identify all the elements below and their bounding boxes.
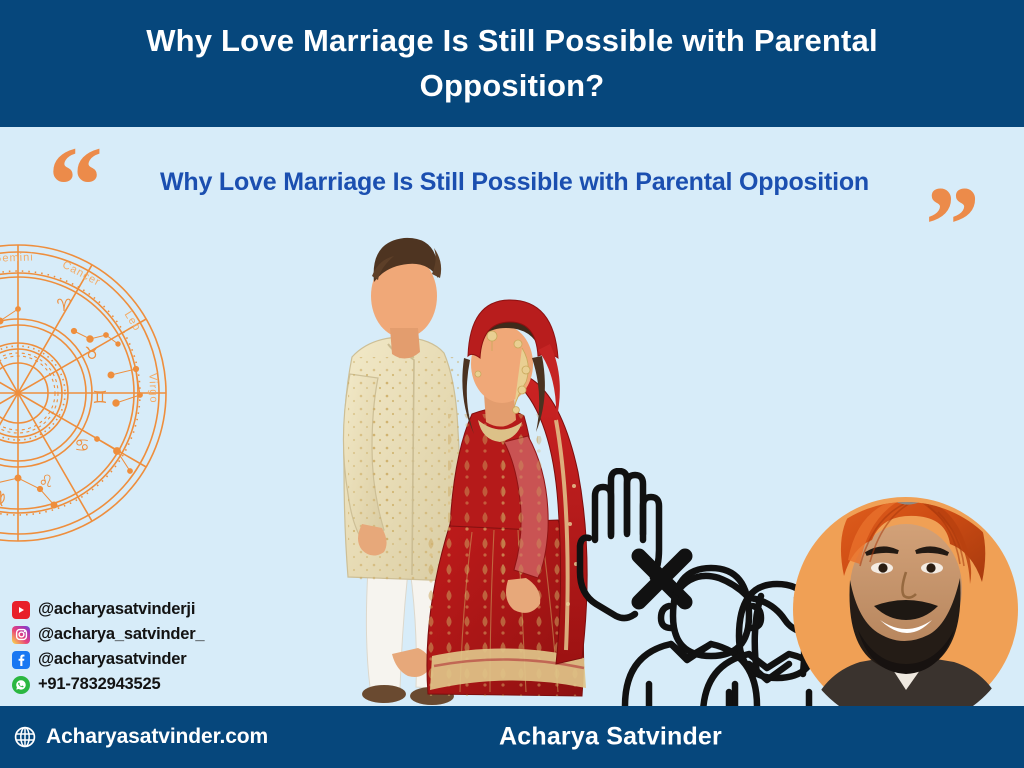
social-row-facebook[interactable]: @acharyasatvinder [12,648,204,671]
whatsapp-icon[interactable] [12,676,30,694]
poster-canvas: Why Love Marriage Is Still Possible with… [0,0,1024,768]
youtube-icon[interactable] [12,601,30,619]
wedding-couple-illustration [332,224,594,714]
footer-website-text: Acharyasatvinder.com [46,725,268,749]
svg-text:♉: ♉ [84,344,99,364]
svg-text:♌: ♌ [38,472,53,492]
svg-text:Virgo: Virgo [146,373,159,404]
svg-text:Leo: Leo [122,309,143,333]
svg-text:♈: ♈ [56,296,71,316]
svg-text:Gemini: Gemini [0,251,34,264]
parents-objection-icon [565,468,815,713]
svg-text:♋: ♋ [74,436,89,456]
social-handle-youtube: @acharyasatvinderji [38,600,195,619]
social-handle-instagram: @acharya_satvinder_ [38,625,204,644]
svg-text:♍: ♍ [0,488,6,508]
social-row-whatsapp[interactable]: +91-7832943525 [12,673,204,696]
social-handles-list: @acharyasatvinderji @acharya_satvinder_ … [12,598,204,696]
globe-icon [14,726,36,748]
footer-author-name: Acharya Satvinder [499,723,722,752]
astrologer-portrait [788,480,1024,715]
quote-open-icon: “ [48,130,103,240]
footer-band: Acharyasatvinder.com Acharya Satvinder [0,706,1024,768]
footer-website-link[interactable]: Acharyasatvinder.com [14,725,268,749]
instagram-icon[interactable] [12,626,30,644]
social-handle-facebook: @acharyasatvinder [38,650,186,669]
social-row-youtube[interactable]: @acharyasatvinderji [12,598,204,621]
social-row-instagram[interactable]: @acharya_satvinder_ [12,623,204,646]
svg-text:Cancer: Cancer [60,259,102,289]
social-handle-whatsapp: +91-7832943525 [38,675,160,694]
facebook-icon[interactable] [12,651,30,669]
svg-text:♊: ♊ [92,388,107,408]
subtitle-text: Why Love Marriage Is Still Possible with… [160,168,920,197]
quote-close-icon: ” [925,170,980,280]
page-title: Why Love Marriage Is Still Possible with… [112,19,912,109]
zodiac-wheel-graphic: ♈ ♉ ♊ ♋ ♌ ♍ Aries Taurus Gemini Cancer L… [0,228,168,558]
header-band: Why Love Marriage Is Still Possible with… [0,0,1024,127]
